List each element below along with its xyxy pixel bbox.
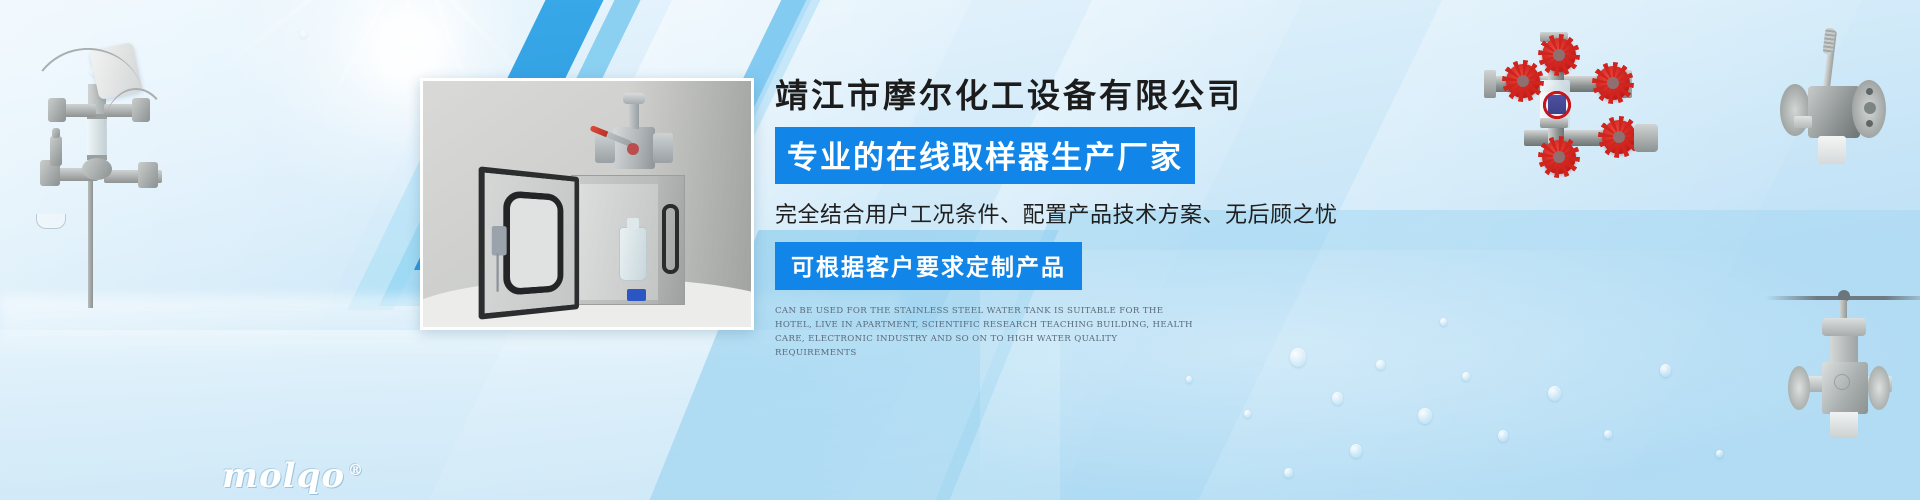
sample-cup (1818, 136, 1846, 164)
red-handwheel (1596, 66, 1630, 100)
pipe-flange (1484, 70, 1496, 98)
water-droplet-icon (1376, 360, 1385, 370)
door-latch (492, 226, 507, 256)
blue-cap (627, 289, 646, 301)
sample-beaker (36, 214, 66, 229)
door-window (503, 190, 563, 296)
product-image-lever-valve (1768, 28, 1908, 198)
cabinet-door (479, 166, 579, 320)
customization-badge: 可根据客户要求定制产品 (775, 242, 1082, 290)
brand-emblem-icon (1540, 88, 1574, 122)
water-droplet-icon (1418, 408, 1432, 424)
english-description: CAN BE USED FOR THE STAINLESS STEEL WATE… (775, 304, 1193, 361)
watermark-text: molqo (222, 456, 345, 496)
top-valve-assembly (599, 103, 669, 181)
promo-banner: 靖江市摩尔化工设备有限公司 专业的在线取样器生产厂家 完全结合用户工况条件、配置… (0, 0, 1920, 500)
red-handwheel (1542, 38, 1576, 72)
water-droplet-icon (1332, 392, 1343, 405)
brand-watermark: molqo® (222, 456, 364, 496)
valve-hub (82, 158, 112, 180)
water-droplet-icon (300, 30, 307, 38)
cabinet-handle (662, 204, 679, 274)
valve-flange (1780, 84, 1810, 136)
flange-bolt-hole (1866, 120, 1873, 127)
sub-headline: 完全结合用户工况条件、配置产品技术方案、无后顾之忧 (775, 197, 1415, 229)
registered-mark-icon: ® (348, 461, 364, 479)
water-droplet-icon (1284, 468, 1293, 478)
accessory-block (1634, 124, 1658, 152)
custom-badge-row: 可根据客户要求定制产品 (775, 242, 1415, 290)
valve-collar (1822, 318, 1866, 336)
brand-emblem-icon (627, 143, 639, 155)
red-handwheel (1506, 64, 1540, 98)
water-droplet-icon (1186, 376, 1192, 383)
water-droplet-icon (1604, 430, 1612, 439)
valve-outlet (1830, 412, 1858, 438)
valve-flange (653, 133, 673, 163)
valve-flange (1852, 80, 1886, 138)
valve-nameplate (1794, 116, 1812, 128)
water-droplet-icon (1462, 372, 1470, 381)
product-image-pole-sampler (8, 18, 178, 308)
water-droplet-icon (1244, 410, 1251, 418)
water-droplet-icon (1350, 444, 1362, 458)
red-handwheel (1602, 120, 1636, 154)
brand-emblem-icon (1834, 374, 1850, 390)
tagline-badge: 专业的在线取样器生产厂家 (775, 127, 1195, 184)
banner-text-block: 靖江市摩尔化工设备有限公司 专业的在线取样器生产厂家 完全结合用户工况条件、配置… (775, 76, 1415, 360)
flange-bore (1864, 102, 1876, 114)
water-droplet-icon (1548, 386, 1561, 401)
mounting-pole (88, 168, 93, 308)
main-product-photo (420, 78, 754, 330)
tagline-row: 专业的在线取样器生产厂家 (775, 127, 1415, 184)
sample-bottle (619, 227, 647, 281)
red-handwheel (1542, 140, 1576, 174)
emblem-inner (1548, 95, 1566, 114)
water-droplet-icon (1716, 450, 1723, 458)
company-name: 靖江市摩尔化工设备有限公司 (775, 76, 1415, 116)
water-droplet-icon (1498, 430, 1508, 442)
valve-stem (629, 101, 639, 129)
valve-flange (1868, 366, 1890, 410)
product-image-valve-manifold (1484, 32, 1684, 168)
valve-flange (1788, 366, 1810, 410)
water-droplet-icon (1440, 318, 1447, 326)
valve-knob (623, 93, 645, 104)
flex-tube (104, 88, 168, 170)
water-droplet-icon (1660, 364, 1671, 377)
product-image-bottom-valve (1772, 262, 1920, 442)
flange-bolt-hole (1866, 88, 1873, 95)
photo-content (423, 81, 751, 327)
